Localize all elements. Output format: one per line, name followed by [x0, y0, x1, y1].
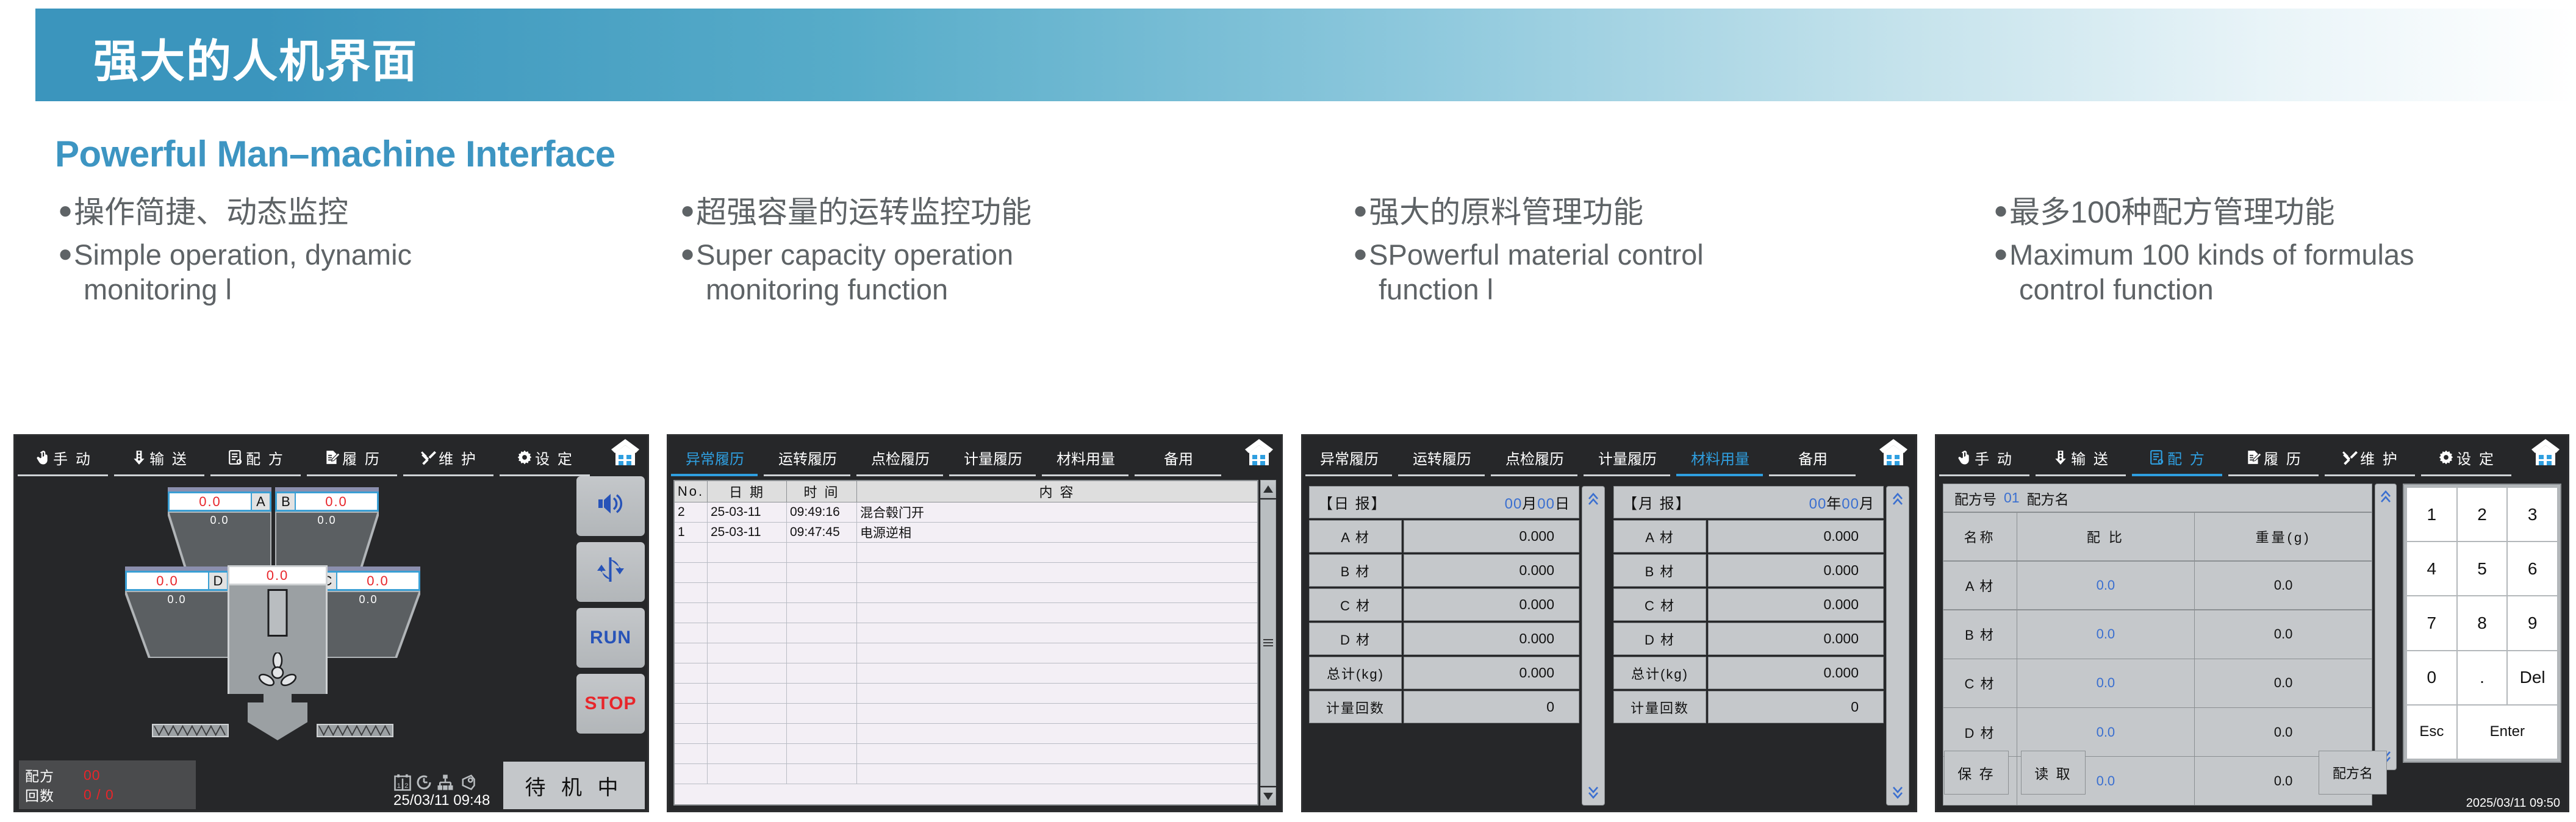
chevron-down-double-icon[interactable] — [1587, 784, 1599, 800]
keypad-key-7[interactable]: 7 — [2407, 596, 2456, 649]
col-weight: 重量(g) — [2194, 512, 2372, 562]
report-row-label: 总计(kg) — [1613, 657, 1706, 689]
tab-3[interactable]: 点检履历 — [1488, 438, 1581, 476]
side-button-refresh-cycle-icon[interactable] — [576, 542, 645, 602]
tab-5[interactable]: 材料用量 — [1674, 438, 1767, 476]
arrow-down-conveying-icon — [2053, 449, 2068, 465]
home-button[interactable] — [1242, 436, 1276, 470]
cell-time — [787, 764, 857, 784]
page-subtitle: Powerful Man–machine Interface — [55, 133, 615, 175]
network-sitemap-icon — [436, 773, 454, 792]
recipe-row[interactable]: B 材0.00.0 — [1943, 610, 2372, 659]
bullet-cn-text: 最多100种配方管理功能 — [2009, 194, 2576, 231]
chevron-down-double-icon[interactable] — [1892, 784, 1904, 800]
tab-label: 计量履历 — [1598, 447, 1657, 468]
bullet-en: ● Maximum 100 kinds of formulas — [1993, 237, 2576, 272]
tab-4[interactable]: 计量履历 — [947, 438, 1039, 476]
keypad-key-enter[interactable]: Enter — [2458, 706, 2557, 759]
tab-label: 运转履历 — [1413, 447, 1471, 468]
report-row: B 材0.000 — [1613, 554, 1884, 587]
recipe-material-name: B 材 — [1943, 610, 2017, 659]
cell-time: 09:49:16 — [787, 502, 857, 522]
save-button[interactable]: 保 存 — [1944, 751, 2009, 795]
cell-time — [787, 663, 857, 683]
hmi-panel-material-usage: 异常履历运转履历点检履历计量履历材料用量备用 【日 报】00月00日A 材0.0… — [1301, 434, 1917, 812]
count-value: 0 / 0 — [84, 787, 114, 803]
report-row-value: 0.000 — [1708, 588, 1884, 621]
panel4-body: 配方号 01 配方名 名称配 比重量(g)A 材0.00.0B 材0.00.0C… — [1937, 476, 2567, 812]
chevron-up-double-icon[interactable] — [1892, 491, 1904, 507]
bullet-cn-text: 操作简捷、动态监控 — [74, 194, 668, 231]
keypad-key-1[interactable]: 1 — [2407, 488, 2456, 541]
keypad-key-0[interactable]: 0 — [2407, 651, 2456, 704]
cell-date — [708, 663, 787, 683]
report-row-value: 0.000 — [1708, 554, 1884, 587]
recipe-row[interactable]: C 材0.00.0 — [1943, 659, 2372, 708]
scroll-up-button[interactable] — [1260, 480, 1276, 498]
panel1-navbar: 手 动输 送配 方履 历维 护设 定 — [15, 436, 647, 476]
bullet-en-cont: monitoring function — [680, 272, 1290, 307]
nav-item-wrench-screwdriver-icon[interactable]: 维 护 — [2322, 438, 2419, 476]
keypad-key-3[interactable]: 3 — [2508, 488, 2557, 541]
tab-2[interactable]: 运转履历 — [761, 438, 854, 476]
bullet-column-1: ● 操作简捷、动态监控 ● Simple operation, dynamic … — [58, 194, 668, 307]
cell-content — [857, 623, 1257, 643]
cell-no — [675, 663, 708, 683]
svg-text:2: 2 — [404, 782, 408, 790]
cell-content — [857, 563, 1257, 582]
hopper-c[interactable]: C 0.0 0.0 — [317, 566, 420, 658]
status-clock-area: 1 2 — [393, 773, 490, 809]
hopper-a-value-row[interactable]: 0.0 A — [168, 491, 271, 512]
hopper-a-subvalue: 0.0 — [168, 514, 271, 527]
hopper-a-tag: A — [251, 493, 270, 510]
hopper-c-subvalue: 0.0 — [317, 593, 420, 606]
feeder-screw-icon — [153, 725, 228, 736]
recipe-no-label: 配方号 — [1954, 488, 1997, 509]
panel1-body: 0.0 A 0.0 B 0.0 — [15, 476, 647, 812]
tab-1[interactable]: 异常履历 — [1303, 438, 1396, 476]
report-row-label: C 材 — [1613, 588, 1706, 621]
panel2-tabbar: 异常履历运转履历点检履历计量履历材料用量备用 — [669, 436, 1281, 476]
table-row[interactable] — [675, 623, 1257, 643]
nav-item-label: 履 历 — [342, 447, 381, 468]
nav-item-arrow-down-conveying-icon[interactable]: 输 送 — [2033, 438, 2129, 476]
report-row: D 材0.000 — [1309, 623, 1579, 655]
table-row[interactable] — [675, 724, 1257, 744]
recipe-header-row: 名称配 比重量(g) — [1943, 512, 2372, 561]
report-row-value: 0.000 — [1708, 657, 1884, 689]
hopper-cap — [275, 487, 379, 491]
table-row[interactable] — [675, 643, 1257, 663]
nav-item-recipe-document-icon[interactable]: 配 方 — [208, 438, 304, 476]
cell-content: 混合毂门开 — [857, 502, 1257, 522]
report-row-value: 0 — [1404, 691, 1579, 723]
report-row-label: D 材 — [1309, 623, 1402, 655]
cell-date — [708, 704, 787, 723]
recipe-material-name: C 材 — [1943, 659, 2017, 708]
cell-time — [787, 724, 857, 743]
col-content: 内 容 — [857, 481, 1257, 502]
side-button-run[interactable]: RUN — [576, 608, 645, 668]
cell-no: 2 — [675, 502, 708, 522]
report-row: 计量回数0 — [1613, 691, 1884, 723]
history-document-pen-icon — [324, 449, 340, 465]
cell-time: 09:47:45 — [787, 523, 857, 542]
bullet-column-3: ● 强大的原料管理功能 ● SPowerful material control… — [1353, 194, 1963, 307]
cell-time — [787, 744, 857, 763]
clock-icon — [415, 773, 433, 792]
cell-no — [675, 583, 708, 602]
tab-label: 运转履历 — [778, 447, 837, 468]
table-row[interactable]: 225-03-1109:49:16混合毂门开 — [675, 502, 1257, 523]
recipe-ratio-field[interactable]: 0.0 — [2017, 610, 2195, 659]
tab-4[interactable]: 计量履历 — [1581, 438, 1674, 476]
cell-no — [675, 744, 708, 763]
keypad-key-9[interactable]: 9 — [2508, 596, 2557, 649]
table-row[interactable] — [675, 563, 1257, 583]
report-row-value: 0.000 — [1708, 623, 1884, 655]
calendar-12-icon: 1 2 — [393, 773, 412, 792]
table-body: 225-03-1109:49:16混合毂门开125-03-1109:47:45电… — [675, 502, 1257, 784]
table-row[interactable] — [675, 603, 1257, 623]
status-icon-row: 1 2 — [393, 773, 490, 792]
nav-item-recipe-document-icon[interactable]: 配 方 — [2129, 438, 2226, 476]
recipe-scrollbar[interactable] — [2375, 484, 2397, 770]
cell-no — [675, 543, 708, 562]
page-title: 强大的人机界面 — [93, 39, 418, 84]
report-header[interactable]: 【日 报】00月00日 — [1309, 486, 1579, 518]
keypad-key-2[interactable]: 2 — [2458, 488, 2507, 541]
nav-item-label: 输 送 — [149, 447, 188, 468]
scrollbar-grip-icon — [1263, 637, 1273, 648]
gear-icon — [2438, 449, 2454, 465]
report-block-daily: 【日 报】00月00日A 材0.000B 材0.000C 材0.000D 材0.… — [1309, 486, 1605, 806]
hopper-c-value: 0.0 — [337, 573, 418, 589]
keypad-key-6[interactable]: 6 — [2508, 542, 2557, 595]
tab-label: 备用 — [1798, 447, 1828, 468]
report-row-value: 0.000 — [1404, 520, 1579, 552]
count-row: 回数 0 / 0 — [25, 785, 190, 804]
recipe-weight-field[interactable]: 0.0 — [2194, 561, 2372, 610]
table-row[interactable] — [675, 764, 1257, 784]
table-row[interactable] — [675, 663, 1257, 684]
cell-no — [675, 623, 708, 643]
count-label: 回数 — [25, 784, 84, 805]
wrench-screwdriver-icon — [420, 449, 436, 465]
cell-date: 25-03-11 — [708, 523, 787, 542]
cell-date — [708, 623, 787, 643]
report-block-monthly: 【月 报】00年00月A 材0.000B 材0.000C 材0.000D 材0.… — [1613, 486, 1909, 806]
nav-item-gear-icon[interactable]: 设 定 — [2419, 438, 2515, 476]
report-title: 【日 报】 — [1318, 491, 1387, 513]
recipe-weight-field[interactable]: 0.0 — [2194, 659, 2372, 708]
cell-date: 25-03-11 — [708, 502, 787, 522]
hopper-a-value: 0.0 — [170, 493, 251, 510]
recipe-ratio-field[interactable]: 0.0 — [2017, 707, 2195, 757]
cell-content — [857, 744, 1257, 763]
tab-6[interactable]: 备用 — [1767, 438, 1859, 476]
cell-content — [857, 643, 1257, 663]
cell-time — [787, 543, 857, 562]
arrow-down-conveying-icon — [131, 449, 147, 465]
tab-3[interactable]: 点检履历 — [854, 438, 947, 476]
report-row-label: C 材 — [1309, 588, 1402, 621]
bullet-cn: ● 超强容量的运转监控功能 — [680, 194, 1290, 231]
nav-item-history-document-pen-icon[interactable]: 履 历 — [2226, 438, 2322, 476]
bullet-en-cont: control function — [1993, 272, 2576, 307]
recipe-header[interactable]: 配方号 01 配方名 — [1943, 484, 2372, 512]
col-name: 名称 — [1943, 512, 2017, 562]
nav-item-history-document-pen-icon[interactable]: 履 历 — [304, 438, 401, 476]
table-header-row: No. 日 期 时 间 内 容 — [675, 481, 1257, 502]
panel2-body: No. 日 期 时 间 内 容 225-03-1109:49:16混合毂门开12… — [669, 476, 1281, 812]
tab-2[interactable]: 运转履历 — [1396, 438, 1488, 476]
chevron-up-double-icon[interactable] — [1587, 491, 1599, 507]
recipe-row[interactable]: A 材0.00.0 — [1943, 561, 2372, 610]
gear-icon — [517, 449, 533, 465]
hopper-cap — [168, 487, 271, 491]
bullet-en: ● Super capacity operation — [680, 237, 1290, 272]
hand-touch-icon — [1956, 449, 1972, 465]
cell-date — [708, 603, 787, 623]
col-date: 日 期 — [708, 481, 787, 502]
bullet-dot-icon: ● — [1993, 194, 2008, 227]
report-period[interactable]: 00月00日 — [1387, 491, 1570, 513]
cell-content — [857, 764, 1257, 784]
table-row[interactable] — [675, 704, 1257, 724]
cell-time — [787, 563, 857, 582]
keypad-key-5[interactable]: 5 — [2458, 542, 2507, 595]
refresh-cycle-icon — [596, 556, 625, 588]
alarm-history-table: No. 日 期 时 间 内 容 225-03-1109:49:16混合毂门开12… — [673, 480, 1258, 806]
recipe-document-icon — [2149, 449, 2165, 465]
bullet-en: ● Simple operation, dynamic — [58, 237, 668, 272]
triangle-up-icon — [1263, 485, 1274, 493]
report-row-label: A 材 — [1309, 520, 1402, 552]
cell-no — [675, 563, 708, 582]
panel4-navbar: 手 动输 送配 方履 历维 护设 定 — [1937, 436, 2567, 476]
report-row-value: 0.000 — [1404, 588, 1579, 621]
cell-date — [708, 764, 787, 784]
keypad-key-dot[interactable]: . — [2458, 651, 2507, 704]
cell-date — [708, 643, 787, 663]
cell-content — [857, 704, 1257, 723]
hopper-d-subvalue: 0.0 — [125, 593, 229, 606]
nav-item-label: 维 护 — [439, 447, 478, 468]
hopper-cap — [125, 566, 229, 571]
nav-item-label: 手 动 — [1975, 447, 2014, 468]
hopper-b-value-row[interactable]: B 0.0 — [275, 491, 379, 512]
tab-label: 异常履历 — [1320, 447, 1379, 468]
nav-item-label: 设 定 — [535, 447, 574, 468]
hopper-c-value-row[interactable]: C 0.0 — [317, 571, 420, 591]
cell-date — [708, 724, 787, 743]
panel1-side-buttons: RUNSTOP — [576, 476, 645, 740]
cell-time — [787, 643, 857, 663]
nav-item-label: 配 方 — [246, 447, 285, 468]
nav-item-label: 配 方 — [2167, 447, 2206, 468]
wrench-screwdriver-icon — [2342, 449, 2358, 465]
hopper-cap — [317, 566, 420, 571]
feeder-d — [152, 724, 229, 737]
report-row-value: 0.000 — [1404, 657, 1579, 689]
tab-label: 备用 — [1164, 447, 1193, 468]
hopper-d-value: 0.0 — [127, 573, 208, 589]
panel4-timestamp: 2025/03/11 09:50 — [2466, 796, 2560, 810]
report-scrollbar[interactable] — [1886, 486, 1909, 806]
nav-item-hand-touch-icon[interactable]: 手 动 — [1937, 438, 2033, 476]
nav-item-gear-icon[interactable]: 设 定 — [497, 438, 594, 476]
report-period[interactable]: 00年00月 — [1692, 491, 1875, 513]
tab-1[interactable]: 异常履历 — [669, 438, 761, 476]
home-grid-icon — [1244, 438, 1274, 469]
bullet-dot-icon: ● — [1353, 237, 1368, 270]
tab-6[interactable]: 备用 — [1132, 438, 1225, 476]
report-row-label: B 材 — [1309, 554, 1402, 587]
report-row: A 材0.000 — [1309, 520, 1579, 552]
cell-time — [787, 623, 857, 643]
recipe-row[interactable]: D 材0.00.0 — [1943, 708, 2372, 757]
cell-no — [675, 643, 708, 663]
chevron-up-double-icon[interactable] — [2380, 489, 2392, 505]
tab-label: 点检履历 — [871, 447, 930, 468]
bullet-column-4: ● 最多100种配方管理功能 ● Maximum 100 kinds of fo… — [1993, 194, 2576, 307]
report-title: 【月 报】 — [1623, 491, 1692, 513]
alarm-table-scrollbar[interactable] — [1260, 480, 1276, 806]
hopper-d-value-row[interactable]: 0.0 D — [125, 571, 229, 591]
cell-time — [787, 704, 857, 723]
scrollbar-thumb[interactable] — [1260, 499, 1276, 786]
cell-no — [675, 684, 708, 703]
feature-bullets: ● 操作简捷、动态监控 ● Simple operation, dynamic … — [0, 194, 2576, 371]
mixer-body — [228, 585, 328, 694]
bullet-en-cont: function l — [1353, 272, 1963, 307]
bullet-en-text: Simple operation, dynamic — [74, 237, 668, 272]
triangle-down-icon — [1263, 792, 1274, 801]
report-row: C 材0.000 — [1613, 588, 1884, 621]
report-header[interactable]: 【月 报】00年00月 — [1613, 486, 1884, 518]
usb-drive-icon — [457, 773, 476, 792]
tab-5[interactable]: 材料用量 — [1039, 438, 1132, 476]
nav-item-wrench-screwdriver-icon[interactable]: 维 护 — [401, 438, 497, 476]
load-button[interactable]: 读 取 — [2021, 751, 2086, 795]
nav-item-label: 履 历 — [2264, 447, 2303, 468]
table-row[interactable] — [675, 744, 1257, 764]
cell-content — [857, 663, 1257, 683]
home-grid-icon — [610, 438, 640, 469]
col-time: 时 间 — [787, 481, 857, 502]
report-row: 总计(kg)0.000 — [1613, 657, 1884, 689]
report-scrollbar[interactable] — [1582, 486, 1605, 806]
nav-item-arrow-down-conveying-icon[interactable]: 输 送 — [112, 438, 208, 476]
mixer-neck — [264, 694, 292, 702]
cell-content — [857, 603, 1257, 623]
bullet-en-text: Maximum 100 kinds of formulas — [2009, 237, 2576, 272]
recipe-info-box: 配方 00 回数 0 / 0 — [19, 760, 196, 809]
report-row: 总计(kg)0.000 — [1309, 657, 1579, 689]
cell-date — [708, 744, 787, 763]
report-table: 【月 报】00年00月A 材0.000B 材0.000C 材0.000D 材0.… — [1613, 486, 1884, 806]
table-row[interactable]: 125-03-1109:47:45电源逆相 — [675, 523, 1257, 543]
keypad-key-del[interactable]: Del — [2508, 651, 2557, 704]
mixer-column[interactable]: 0.0 — [228, 565, 328, 740]
speaker-icon — [596, 490, 625, 522]
scroll-down-button[interactable] — [1260, 787, 1276, 806]
nav-item-label: 输 送 — [2071, 447, 2110, 468]
cell-date — [708, 543, 787, 562]
cell-content: 电源逆相 — [857, 523, 1257, 542]
recipe-weight-field[interactable]: 0.0 — [2194, 707, 2372, 757]
numeric-keypad: 1234567890.DelEscEnter — [2403, 484, 2561, 763]
tab-label: 计量履历 — [964, 447, 1022, 468]
tab-label: 异常履历 — [686, 447, 744, 468]
bullet-column-2: ● 超强容量的运转监控功能 ● Super capacity operation… — [680, 194, 1290, 307]
col-ratio: 配 比 — [2017, 512, 2195, 562]
recipe-ratio-field[interactable]: 0.0 — [2017, 561, 2195, 610]
recipe-weight-field[interactable]: 0.0 — [2194, 610, 2372, 659]
panel3-tabbar: 异常履历运转履历点检履历计量履历材料用量备用 — [1303, 436, 1915, 476]
hopper-d[interactable]: 0.0 D 0.0 — [125, 566, 229, 658]
hopper-b-tag: B — [277, 493, 296, 510]
table-row[interactable] — [675, 684, 1257, 704]
panel1-timestamp: 25/03/11 09:48 — [393, 792, 490, 809]
hopper-d-tag: D — [208, 573, 227, 589]
mixer-value: 0.0 — [228, 565, 328, 585]
side-button-stop[interactable]: STOP — [576, 674, 645, 734]
tab-label: 材料用量 — [1691, 447, 1749, 468]
keypad-key-8[interactable]: 8 — [2458, 596, 2507, 649]
bullet-dot-icon: ● — [58, 237, 73, 270]
bullet-cn-text: 超强容量的运转监控功能 — [696, 194, 1290, 231]
panel3-body: 【日 报】00月00日A 材0.000B 材0.000C 材0.000D 材0.… — [1303, 476, 1915, 812]
report-table: 【日 报】00月00日A 材0.000B 材0.000C 材0.000D 材0.… — [1309, 486, 1579, 806]
history-document-pen-icon — [2245, 449, 2261, 465]
hmi-panel-alarm-history: 异常履历运转履历点检履历计量履历材料用量备用 No. 日 期 时 间 内 容 2… — [667, 434, 1283, 812]
slide-root: 强大的人机界面 Powerful Man–machine Interface ●… — [0, 0, 2576, 822]
recipe-ratio-field[interactable]: 0.0 — [2017, 659, 2195, 708]
report-row-label: A 材 — [1613, 520, 1706, 552]
recipe-row: 配方 00 — [25, 765, 190, 785]
hopper-b-subvalue: 0.0 — [275, 514, 379, 527]
cell-no — [675, 704, 708, 723]
bullet-cn: ● 强大的原料管理功能 — [1353, 194, 1963, 231]
recipe-value: 00 — [84, 767, 101, 784]
home-button[interactable] — [608, 436, 642, 470]
bullet-en: ● SPowerful material control — [1353, 237, 1963, 272]
tab-label: 点检履历 — [1505, 447, 1564, 468]
home-button[interactable] — [2528, 436, 2563, 470]
keypad-key-4[interactable]: 4 — [2407, 542, 2456, 595]
cell-content — [857, 543, 1257, 562]
table-row[interactable] — [675, 583, 1257, 603]
hmi-panel-main-monitor: 手 动输 送配 方履 历维 护设 定 0.0 A 0.0 — [13, 434, 649, 812]
nav-item-hand-touch-icon[interactable]: 手 动 — [15, 438, 112, 476]
home-grid-icon — [1878, 438, 1909, 469]
bullet-dot-icon: ● — [680, 237, 695, 270]
cell-time — [787, 583, 857, 602]
cell-content — [857, 684, 1257, 703]
recipe-name-button[interactable]: 配方名 — [2319, 751, 2387, 795]
side-button-speaker-icon[interactable] — [576, 476, 645, 536]
keypad-key-esc[interactable]: Esc — [2407, 706, 2456, 759]
cell-time — [787, 603, 857, 623]
home-grid-icon — [2530, 438, 2561, 469]
table-row[interactable] — [675, 543, 1257, 563]
recipe-label: 配方 — [25, 765, 84, 785]
recipe-material-name: D 材 — [1943, 707, 2017, 757]
home-button[interactable] — [1876, 436, 1910, 470]
